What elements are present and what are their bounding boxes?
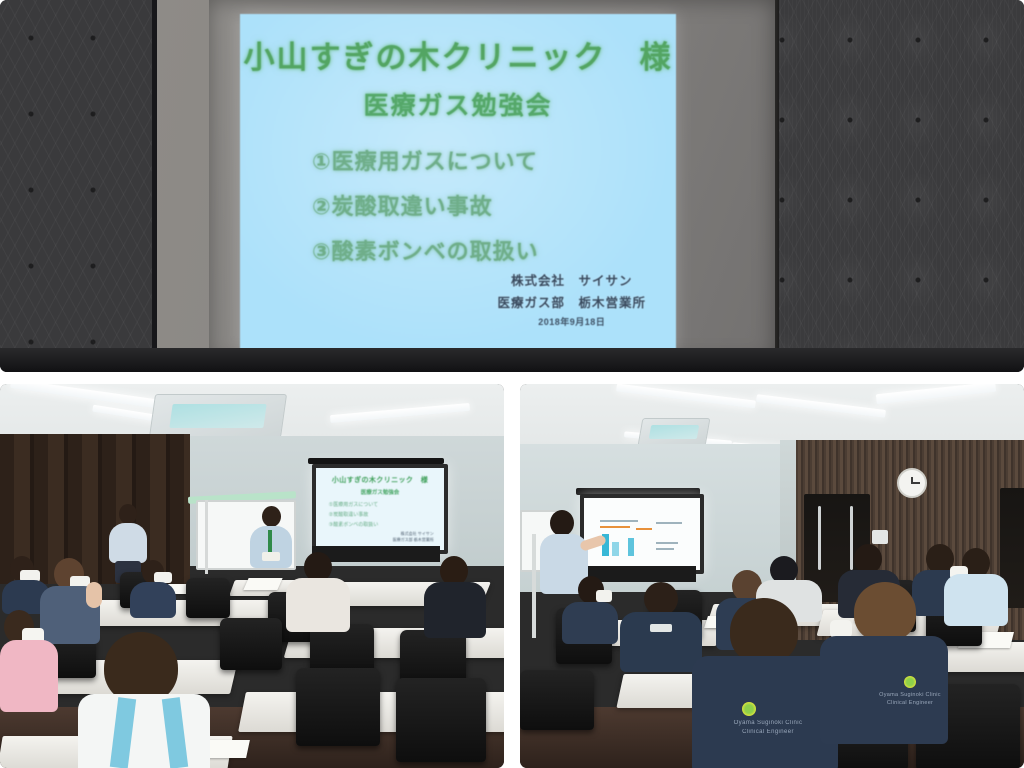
screen-bottom-bar <box>0 348 1024 372</box>
photo-panel-seminar-room-wide[interactable]: 小山すぎの木クリニック 様 医療ガス勉強会 ①医療用ガスについて ②炭酸取違い事… <box>0 384 504 768</box>
projection-screen: 小山すぎの木クリニック 様 医療ガス勉強会 ①医療用ガスについて ②炭酸取違い事… <box>312 464 448 554</box>
uniform-print-line1: Oyama Suginoki Clinic <box>718 720 818 726</box>
slide-subtitle: 医療ガス勉強会 <box>240 86 676 122</box>
paper <box>243 578 282 590</box>
uniform-logo-icon <box>904 676 916 688</box>
attendee <box>130 560 176 616</box>
quilted-wall-left <box>0 0 152 372</box>
whiteboard-stand-leg <box>532 534 536 638</box>
collage-gap-vertical <box>504 372 520 768</box>
projected-slide-small: 小山すぎの木クリニック 様 医療ガス勉強会 ①医療用ガスについて ②炭酸取違い事… <box>316 468 444 550</box>
photo-panel-projected-slide[interactable]: 小山すぎの木クリニック 様 医療ガス勉強会 ①医療用ガスについて ②炭酸取違い事… <box>0 0 1024 372</box>
slide-footer-division: 医療ガス部 栃木営業所 <box>497 292 646 311</box>
chair <box>520 670 594 730</box>
attendee <box>562 576 618 642</box>
projected-chart-slide <box>584 498 700 570</box>
mini-slide-line-2: ②炭酸取違い事故 <box>329 511 378 518</box>
wall-clock-icon <box>897 468 927 498</box>
mini-slide-subtitle: 医療ガス勉強会 <box>316 488 444 496</box>
chair <box>396 678 486 762</box>
slide-title: 小山すぎの木クリニック 様 <box>240 32 676 77</box>
chair <box>220 618 282 670</box>
chair <box>296 668 380 746</box>
quilt-tuft-dots-left <box>0 0 152 372</box>
attendee <box>424 556 486 636</box>
whiteboard-stand-leg <box>205 500 208 574</box>
attendee <box>944 548 1008 624</box>
attendee <box>0 610 62 710</box>
uniform-logo-icon <box>742 702 756 716</box>
slide-bullet-1: ①医療用ガスについて <box>312 144 539 176</box>
wall-fixture <box>872 530 888 544</box>
projection-screen-roller <box>308 458 444 464</box>
attendee-foreground-uniform: Oyama Suginoki Clinic Clinical Engineer <box>692 598 838 768</box>
attendee-foreground <box>78 632 210 768</box>
attendee <box>286 552 350 630</box>
slide-bullet-3: ③酸素ボンベの取扱い <box>312 234 539 266</box>
projected-slide: 小山すぎの木クリニック 様 医療ガス勉強会 ①医療用ガスについて ②炭酸取違い事… <box>240 14 676 354</box>
uniform-print-line2: Clinical Engineer <box>718 729 818 735</box>
photo-collage: 小山すぎの木クリニック 様 医療ガス勉強会 ①医療用ガスについて ②炭酸取違い事… <box>0 0 1024 768</box>
mini-slide-footer: 株式会社 サイサン医療ガス部 栃木営業所 <box>393 531 434 543</box>
projection-screen <box>580 494 704 574</box>
mini-slide-line-1: ①医療用ガスについて <box>329 501 378 508</box>
attendee-foreground-uniform: Oyama Suginoki Clinic Clinical Engineer <box>820 582 948 742</box>
slide-bullet-2: ②炭酸取違い事故 <box>312 189 539 221</box>
mini-slide-lines: ①医療用ガスについて ②炭酸取違い事故 ③酸素ボンベの取扱い <box>329 501 378 531</box>
photo-panel-seminar-room-attendees[interactable]: Oyama Suginoki Clinic Clinical Engineer … <box>520 384 1024 768</box>
air-conditioner-vent <box>638 418 711 446</box>
slide-footer: 株式会社 サイサン 医療ガス部 栃木営業所 2018年9月18日 <box>497 270 646 328</box>
mini-slide-line-3: ③酸素ボンベの取扱い <box>329 521 378 528</box>
uniform-print-line1: Oyama Suginoki Clinic <box>874 692 946 698</box>
chair <box>186 578 230 618</box>
air-conditioner-vent <box>149 394 287 438</box>
attendee <box>620 582 702 670</box>
slide-bullet-list: ①医療用ガスについて ②炭酸取違い事故 ③酸素ボンベの取扱い <box>312 144 539 279</box>
slide-footer-company: 株式会社 サイサン <box>497 270 646 289</box>
uniform-print-line2: Clinical Engineer <box>874 700 946 706</box>
slide-footer-date: 2018年9月18日 <box>497 315 646 328</box>
mini-slide-title: 小山すぎの木クリニック 様 <box>316 475 444 485</box>
